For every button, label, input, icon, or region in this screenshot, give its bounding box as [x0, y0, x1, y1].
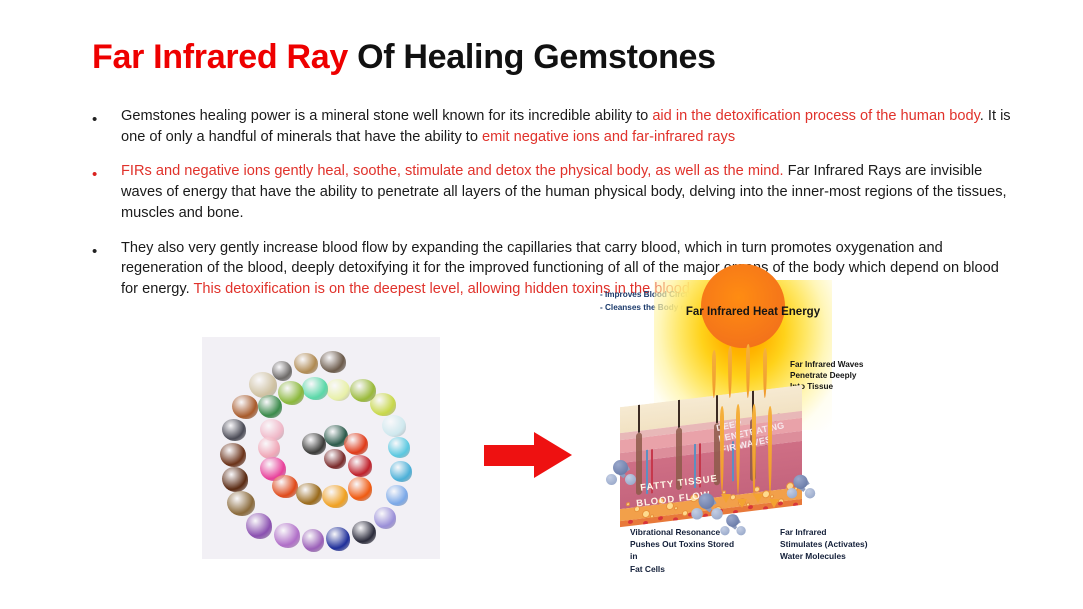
hydrogen-atom [691, 508, 703, 520]
gemstone [324, 449, 346, 469]
oxygen-atom [699, 493, 715, 509]
water-molecule-icon [606, 460, 636, 488]
gemstone [344, 433, 368, 455]
gemstone [348, 455, 372, 477]
gemstone [352, 521, 376, 544]
water-molecule-icon [787, 475, 816, 502]
gemstone [278, 381, 304, 405]
bullet-item: •FIRs and negative ions gently heal, soo… [88, 161, 1018, 223]
oxygen-atom [726, 514, 739, 527]
water-molecule-icon [691, 493, 723, 522]
title-black-part: Of Healing Gemstones [348, 38, 716, 76]
bullet-text-segment: emit negative ions and far-infrared rays [482, 129, 735, 145]
gemstone [222, 467, 248, 492]
gemstone [386, 485, 408, 506]
bullet-marker-icon: • [92, 167, 97, 182]
caption-water-molecules: Far InfraredStimulates (Activates)Water … [780, 526, 890, 563]
downward-arrow-icon [769, 499, 779, 508]
bullet-text-segment: Gemstones healing power is a mineral sto… [121, 108, 652, 124]
gemstone [222, 419, 246, 441]
arrow-head-icon [534, 432, 572, 478]
downward-arrow-icon [737, 499, 747, 508]
blood-cell [673, 517, 678, 522]
gemstone [274, 523, 300, 548]
gemstone [374, 507, 396, 529]
bullet-text-segment: aid in the detoxification process of the… [652, 108, 979, 124]
arrow-shaft-icon [484, 445, 536, 466]
hair-shaft [638, 385, 640, 433]
downward-arrow-icon [753, 494, 763, 503]
bullet-text: FIRs and negative ions gently heal, soot… [121, 161, 1018, 223]
gemstone [388, 437, 410, 458]
gemstone [382, 415, 406, 437]
blood-cell [643, 521, 648, 526]
gemstone [258, 395, 282, 418]
oxygen-atom [613, 460, 628, 475]
gemstone [302, 377, 328, 400]
hydrogen-atom [625, 474, 636, 485]
bullet-item: •Gemstones healing power is a mineral st… [88, 106, 1018, 147]
gemstone [249, 372, 277, 398]
gemstone [220, 443, 246, 467]
gemstone [302, 433, 326, 455]
hydrogen-atom [805, 488, 815, 498]
blood-cell [793, 502, 798, 507]
caption-vibrational-resonance: Vibrational ResonancePushes Out Toxins S… [630, 526, 742, 575]
gemstone [322, 485, 348, 508]
title-red-part: Far Infrared Ray [92, 38, 348, 76]
slide-canvas: Far Infrared Ray Of Healing Gemstones •G… [0, 0, 1083, 609]
bullet-list: •Gemstones healing power is a mineral st… [88, 106, 1018, 314]
bullet-text-segment: FIRs and negative ions gently heal, soot… [121, 163, 784, 179]
red-arrow [484, 432, 576, 480]
gemstone [258, 437, 280, 459]
gemstone [302, 529, 324, 552]
blood-cell [763, 506, 768, 511]
gemstone [296, 483, 322, 505]
gemstone [390, 461, 412, 482]
oxygen-atom [793, 475, 807, 489]
gemstone [294, 353, 318, 374]
bullet-text: Gemstones healing power is a mineral sto… [121, 106, 1018, 147]
hydrogen-atom [606, 474, 617, 485]
fir-infographic: Far Infrared Heat Energy Far Infrared Wa… [600, 288, 900, 606]
gemstone [350, 379, 376, 402]
page-title: Far Infrared Ray Of Healing Gemstones [92, 38, 716, 77]
gemstone [348, 477, 372, 501]
gemstone-photo [202, 337, 440, 559]
hydrogen-atom [787, 488, 797, 498]
gemstone [227, 491, 255, 516]
gemstone [320, 351, 346, 373]
bullet-marker-icon: • [92, 244, 97, 259]
gemstone [246, 513, 272, 539]
gemstone [326, 379, 350, 401]
gemstone [326, 527, 350, 551]
gemstone [272, 475, 298, 498]
bullet-marker-icon: • [92, 112, 97, 127]
gemstone [232, 395, 258, 419]
heat-energy-label: Far Infrared Heat Energy [648, 306, 858, 318]
